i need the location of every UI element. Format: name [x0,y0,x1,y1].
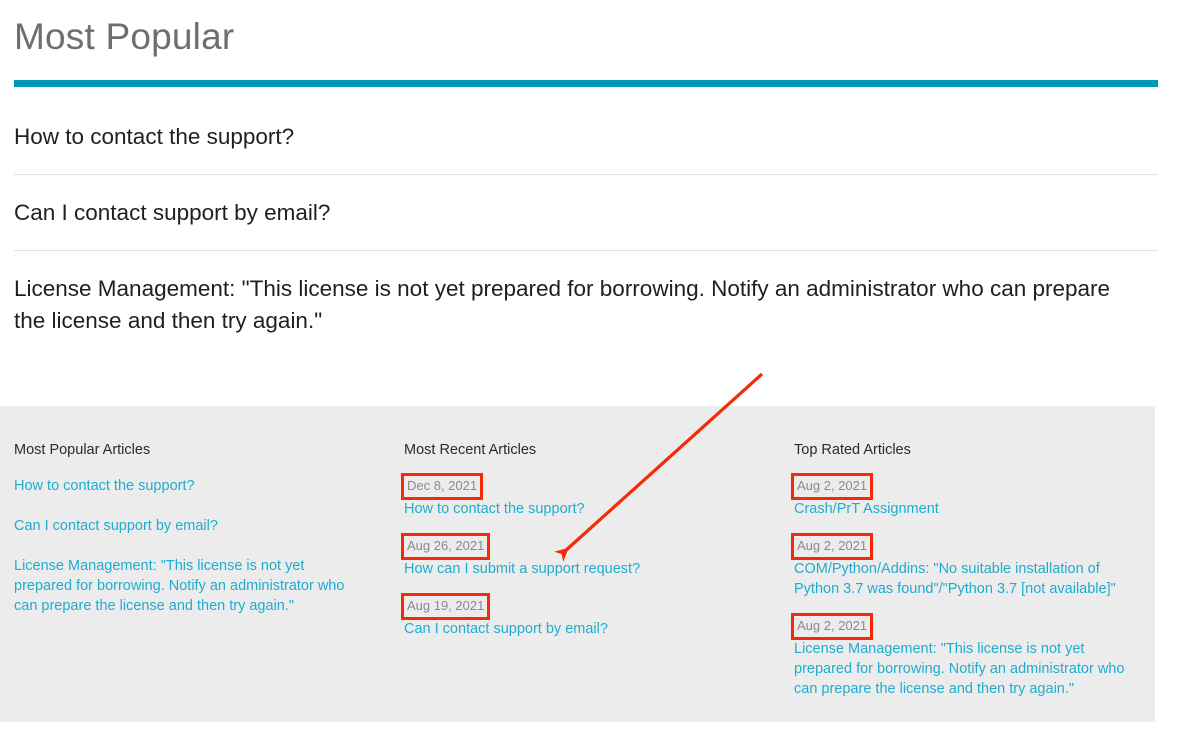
footer-article-link[interactable]: COM/Python/Addins: "No suitable installa… [794,559,1144,599]
footer-column-heading: Most Recent Articles [404,442,774,458]
article-date: Aug 2, 2021 [794,616,870,637]
footer-column-top-rated: Top Rated Articles Aug 2, 2021 Crash/PrT… [794,442,1144,699]
footer-panel: Most Popular Articles How to contact the… [0,406,1155,722]
list-item[interactable]: Aug 2, 2021 Crash/PrT Assignment [794,476,1144,519]
article-link[interactable]: How to contact the support? [14,121,1134,153]
footer-article-link[interactable]: How can I submit a support request? [404,559,774,579]
title-accent-rule [14,80,1158,87]
list-item[interactable]: Aug 2, 2021 COM/Python/Addins: "No suita… [794,536,1144,599]
article-date: Aug 26, 2021 [404,536,487,557]
list-item[interactable]: License Management: "This license is not… [14,556,364,616]
footer-column-heading: Top Rated Articles [794,442,1144,458]
list-item[interactable]: Aug 26, 2021 How can I submit a support … [404,536,774,579]
article-date: Dec 8, 2021 [404,476,480,497]
footer-article-link[interactable]: Can I contact support by email? [404,619,774,639]
article-link[interactable]: Can I contact support by email? [14,197,1134,229]
footer-article-link[interactable]: License Management: "This license is not… [794,639,1144,699]
footer-article-link[interactable]: License Management: "This license is not… [14,556,364,616]
list-item[interactable]: Can I contact support by email? [14,516,364,536]
footer-article-link[interactable]: Can I contact support by email? [14,516,364,536]
list-item[interactable]: Aug 19, 2021 Can I contact support by em… [404,596,774,639]
list-item[interactable]: How to contact the support? [14,476,364,496]
article-link[interactable]: License Management: "This license is not… [14,273,1134,337]
page-title: Most Popular [14,14,234,60]
footer-article-link[interactable]: How to contact the support? [404,499,774,519]
footer-column-most-recent: Most Recent Articles Dec 8, 2021 How to … [404,442,774,639]
article-row[interactable]: License Management: "This license is not… [14,250,1158,358]
footer-column-heading: Most Popular Articles [14,442,364,458]
article-row[interactable]: How to contact the support? [0,99,1187,174]
footer-article-link[interactable]: Crash/PrT Assignment [794,499,1144,519]
footer-column-most-popular: Most Popular Articles How to contact the… [14,442,364,636]
article-date: Aug 19, 2021 [404,596,487,617]
popular-article-list: How to contact the support? Can I contac… [0,99,1187,358]
article-row[interactable]: Can I contact support by email? [14,174,1158,250]
list-item[interactable]: Dec 8, 2021 How to contact the support? [404,476,774,519]
article-date: Aug 2, 2021 [794,476,870,497]
footer-article-link[interactable]: How to contact the support? [14,476,364,496]
article-date: Aug 2, 2021 [794,536,870,557]
list-item[interactable]: Aug 2, 2021 License Management: "This li… [794,616,1144,699]
